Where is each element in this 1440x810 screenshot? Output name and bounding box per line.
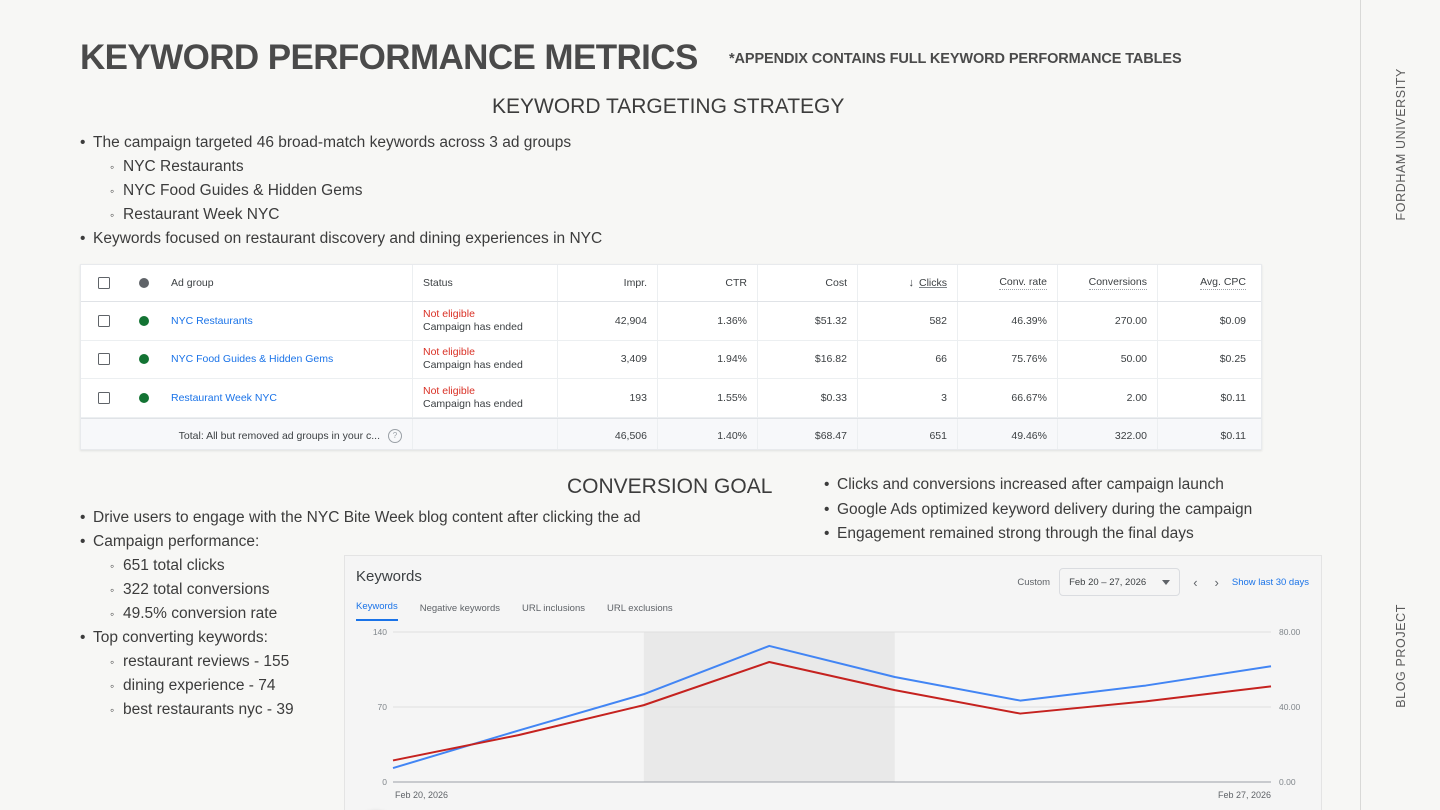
right-rail: FORDHAM UNIVERSITY BLOG PROJECT: [1360, 0, 1440, 810]
total-dot-cell: [127, 419, 161, 451]
cell-ctr: 1.36%: [658, 302, 758, 340]
column-header-impr[interactable]: Impr.: [558, 265, 658, 301]
bullet-item: •Keywords focused on restaurant discover…: [80, 227, 840, 251]
total-avg-cpc: $0.11: [1158, 419, 1256, 451]
cell-ctr: 1.55%: [658, 379, 758, 417]
bullet-item: •The campaign targeted 46 broad-match ke…: [80, 131, 840, 155]
ad-group-link: Restaurant Week NYC: [171, 392, 277, 404]
slide-canvas: KEYWORD PERFORMANCE METRICS *APPENDIX CO…: [0, 0, 1440, 810]
bullet-text: Google Ads optimized keyword delivery du…: [837, 498, 1252, 523]
section-heading-conversion: CONVERSION GOAL: [567, 475, 772, 499]
keywords-panel-tabs: KeywordsNegative keywordsURL inclusionsU…: [356, 601, 673, 621]
sub-bullet-marker-icon: ◦: [110, 578, 123, 602]
right-axis-tick: 80.00: [1279, 627, 1301, 637]
sub-bullet-marker-icon: ◦: [110, 554, 123, 578]
column-header-ad-group[interactable]: Ad group: [161, 265, 413, 301]
right-axis-tick: 40.00: [1279, 702, 1301, 712]
table-header-row: Ad group Status Impr. CTR Cost ↓ Clicks …: [81, 265, 1261, 302]
row-status-dot-cell: [127, 341, 161, 379]
cell-clicks: 582: [858, 302, 958, 340]
cell-avg-cpc: $0.25: [1158, 341, 1256, 379]
status-sub: Campaign has ended: [423, 398, 523, 411]
bullet-text: Engagement remained strong through the f…: [837, 522, 1194, 547]
keywords-panel-title: Keywords: [356, 568, 422, 585]
row-select-cell[interactable]: [81, 302, 127, 340]
cell-conversions: 270.00: [1058, 302, 1158, 340]
bullet-item: ◦NYC Food Guides & Hidden Gems: [80, 179, 840, 203]
status-main: Not eligible: [423, 385, 475, 398]
chart-svg: 0701400.0040.0080.00Feb 20, 2026Feb 27, …: [345, 624, 1321, 810]
tab-keywords[interactable]: Keywords: [356, 601, 398, 621]
table-row[interactable]: NYC Food Guides & Hidden GemsNot eligibl…: [81, 341, 1261, 380]
status-sub: Campaign has ended: [423, 359, 523, 372]
row-checkbox[interactable]: [98, 392, 110, 404]
bullet-item: •Campaign performance:: [80, 530, 800, 554]
date-range-controls: Custom Feb 20 – 27, 2026 ‹ › Show last 3…: [1017, 568, 1309, 596]
total-select-cell: [81, 419, 127, 451]
row-status-dot-cell: [127, 379, 161, 417]
column-header-avg-cpc[interactable]: Avg. CPC: [1158, 265, 1256, 301]
cell-clicks: 66: [858, 341, 958, 379]
targeting-bullet-list: •The campaign targeted 46 broad-match ke…: [80, 131, 840, 251]
date-range-prev-button[interactable]: ‹: [1189, 575, 1201, 590]
cell-avg-cpc: $0.11: [1158, 379, 1256, 417]
sub-bullet-marker-icon: ◦: [110, 650, 123, 674]
x-axis-start-label: Feb 20, 2026: [395, 790, 448, 800]
cell-avg-cpc: $0.09: [1158, 302, 1256, 340]
cell-ad-group[interactable]: NYC Food Guides & Hidden Gems: [161, 341, 413, 379]
total-clicks: 651: [858, 419, 958, 451]
bullet-marker-icon: •: [80, 530, 93, 554]
ad-group-link: NYC Restaurants: [171, 315, 253, 327]
bullet-text: Clicks and conversions increased after c…: [837, 473, 1224, 498]
tab-url-inclusions[interactable]: URL inclusions: [522, 603, 585, 621]
total-ctr: 1.40%: [658, 419, 758, 451]
bullet-text: Campaign performance:: [93, 530, 259, 554]
right-axis-tick: 0.00: [1279, 777, 1296, 787]
cell-conversions: 2.00: [1058, 379, 1158, 417]
total-cost: $68.47: [758, 419, 858, 451]
bullet-marker-icon: •: [80, 131, 93, 155]
cell-clicks: 3: [858, 379, 958, 417]
bullet-text: Restaurant Week NYC: [123, 203, 280, 227]
sort-descending-icon: ↓: [909, 277, 915, 289]
bullet-text: restaurant reviews - 155: [123, 650, 289, 674]
status-dot-icon: [139, 278, 149, 288]
performance-chart[interactable]: 0701400.0040.0080.00Feb 20, 2026Feb 27, …: [345, 624, 1321, 810]
bullet-text: best restaurants nyc - 39: [123, 698, 294, 722]
bullet-text: 49.5% conversion rate: [123, 602, 277, 626]
table-row[interactable]: Restaurant Week NYCNot eligibleCampaign …: [81, 379, 1261, 418]
cell-conv-rate: 66.67%: [958, 379, 1058, 417]
chevron-down-icon: [1162, 580, 1170, 585]
status-dot-icon: [139, 393, 149, 403]
cell-ad-group[interactable]: Restaurant Week NYC: [161, 379, 413, 417]
sub-bullet-marker-icon: ◦: [110, 674, 123, 698]
bullet-marker-icon: •: [824, 522, 837, 546]
cell-impr: 193: [558, 379, 658, 417]
rail-university-label: FORDHAM UNIVERSITY: [1394, 68, 1408, 220]
cell-impr: 3,409: [558, 341, 658, 379]
status-dot-icon: [139, 316, 149, 326]
bullet-text: The campaign targeted 46 broad-match key…: [93, 131, 571, 155]
bullet-marker-icon: •: [80, 626, 93, 650]
total-impr: 46,506: [558, 419, 658, 451]
x-axis-end-label: Feb 27, 2026: [1218, 790, 1271, 800]
cell-cost: $16.82: [758, 341, 858, 379]
cell-conv-rate: 75.76%: [958, 341, 1058, 379]
keywords-panel-header: Keywords KeywordsNegative keywordsURL in…: [345, 556, 1321, 625]
cell-status: Not eligibleCampaign has ended: [413, 341, 558, 379]
cell-conversions: 50.00: [1058, 341, 1158, 379]
date-range-value: Feb 20 – 27, 2026: [1069, 577, 1146, 588]
cell-cost: $51.32: [758, 302, 858, 340]
bullet-text: Drive users to engage with the NYC Bite …: [93, 506, 641, 530]
bullet-item: ◦NYC Restaurants: [80, 155, 840, 179]
select-all-cell[interactable]: [81, 265, 127, 301]
cell-ctr: 1.94%: [658, 341, 758, 379]
row-select-cell[interactable]: [81, 341, 127, 379]
column-header-conversions[interactable]: Conversions: [1058, 265, 1158, 301]
left-axis-tick: 0: [382, 777, 387, 787]
keywords-panel: Keywords KeywordsNegative keywordsURL in…: [344, 555, 1322, 810]
ad-groups-table: Ad group Status Impr. CTR Cost ↓ Clicks …: [80, 264, 1262, 450]
tab-negative-keywords[interactable]: Negative keywords: [420, 603, 500, 621]
cell-status: Not eligibleCampaign has ended: [413, 379, 558, 417]
cell-ad-group[interactable]: NYC Restaurants: [161, 302, 413, 340]
total-label-text: Total: All but removed ad groups in your…: [179, 430, 380, 442]
bullet-marker-icon: •: [824, 473, 837, 497]
bullet-marker-icon: •: [824, 498, 837, 522]
section-heading-targeting: KEYWORD TARGETING STRATEGY: [492, 95, 844, 119]
date-range-next-button[interactable]: ›: [1211, 575, 1223, 590]
bullet-text: 651 total clicks: [123, 554, 225, 578]
column-header-cost[interactable]: Cost: [758, 265, 858, 301]
total-status-cell: [413, 419, 558, 451]
page-title: KEYWORD PERFORMANCE METRICS: [80, 38, 698, 78]
bullet-text: 322 total conversions: [123, 578, 269, 602]
bullet-marker-icon: •: [80, 227, 93, 251]
sub-bullet-marker-icon: ◦: [110, 203, 123, 227]
column-header-ctr[interactable]: CTR: [658, 265, 758, 301]
status-dot-header-cell: [127, 265, 161, 301]
bullet-text: dining experience - 74: [123, 674, 276, 698]
date-range-mode-label: Custom: [1017, 577, 1050, 588]
sub-bullet-marker-icon: ◦: [110, 179, 123, 203]
ad-group-link: NYC Food Guides & Hidden Gems: [171, 353, 333, 365]
column-header-status[interactable]: Status: [413, 265, 558, 301]
bullet-text: Top converting keywords:: [93, 626, 268, 650]
total-label-cell: Total: All but removed ad groups in your…: [161, 419, 413, 451]
bullet-text: NYC Restaurants: [123, 155, 244, 179]
table-row[interactable]: NYC RestaurantsNot eligibleCampaign has …: [81, 302, 1261, 341]
bullet-item: ◦Restaurant Week NYC: [80, 203, 840, 227]
total-conversions: 322.00: [1058, 419, 1158, 451]
row-checkbox[interactable]: [98, 353, 110, 365]
row-checkbox[interactable]: [98, 315, 110, 327]
bullet-text: NYC Food Guides & Hidden Gems: [123, 179, 363, 203]
bullet-item: •Google Ads optimized keyword delivery d…: [824, 498, 1324, 523]
column-header-conv-rate[interactable]: Conv. rate: [958, 265, 1058, 301]
sub-bullet-marker-icon: ◦: [110, 602, 123, 626]
total-conv-rate: 49.46%: [958, 419, 1058, 451]
cell-impr: 42,904: [558, 302, 658, 340]
status-main: Not eligible: [423, 346, 475, 359]
left-axis-tick: 70: [378, 702, 388, 712]
bullet-item: •Clicks and conversions increased after …: [824, 473, 1324, 498]
sub-bullet-marker-icon: ◦: [110, 698, 123, 722]
row-status-dot-cell: [127, 302, 161, 340]
select-all-checkbox[interactable]: [98, 277, 110, 289]
cell-conv-rate: 46.39%: [958, 302, 1058, 340]
tab-url-exclusions[interactable]: URL exclusions: [607, 603, 673, 621]
bullet-item: •Drive users to engage with the NYC Bite…: [80, 506, 800, 530]
cell-cost: $0.33: [758, 379, 858, 417]
cell-status: Not eligibleCampaign has ended: [413, 302, 558, 340]
show-last-30-days-link[interactable]: Show last 30 days: [1232, 577, 1309, 588]
sub-bullet-marker-icon: ◦: [110, 155, 123, 179]
help-icon[interactable]: ?: [388, 429, 402, 443]
column-header-clicks[interactable]: ↓ Clicks: [858, 265, 958, 301]
row-select-cell[interactable]: [81, 379, 127, 417]
status-dot-icon: [139, 354, 149, 364]
left-axis-tick: 140: [373, 627, 387, 637]
status-main: Not eligible: [423, 308, 475, 321]
date-range-dropdown[interactable]: Feb 20 – 27, 2026: [1059, 568, 1180, 596]
table-total-row: Total: All but removed ad groups in your…: [81, 418, 1261, 451]
page-subtitle: *APPENDIX CONTAINS FULL KEYWORD PERFORMA…: [729, 51, 1182, 67]
rail-project-label: BLOG PROJECT: [1394, 604, 1408, 708]
bullet-text: Keywords focused on restaurant discovery…: [93, 227, 602, 251]
insights-bullet-list: •Clicks and conversions increased after …: [824, 473, 1324, 547]
bullet-marker-icon: •: [80, 506, 93, 530]
bullet-item: •Engagement remained strong through the …: [824, 522, 1324, 547]
status-sub: Campaign has ended: [423, 321, 523, 334]
